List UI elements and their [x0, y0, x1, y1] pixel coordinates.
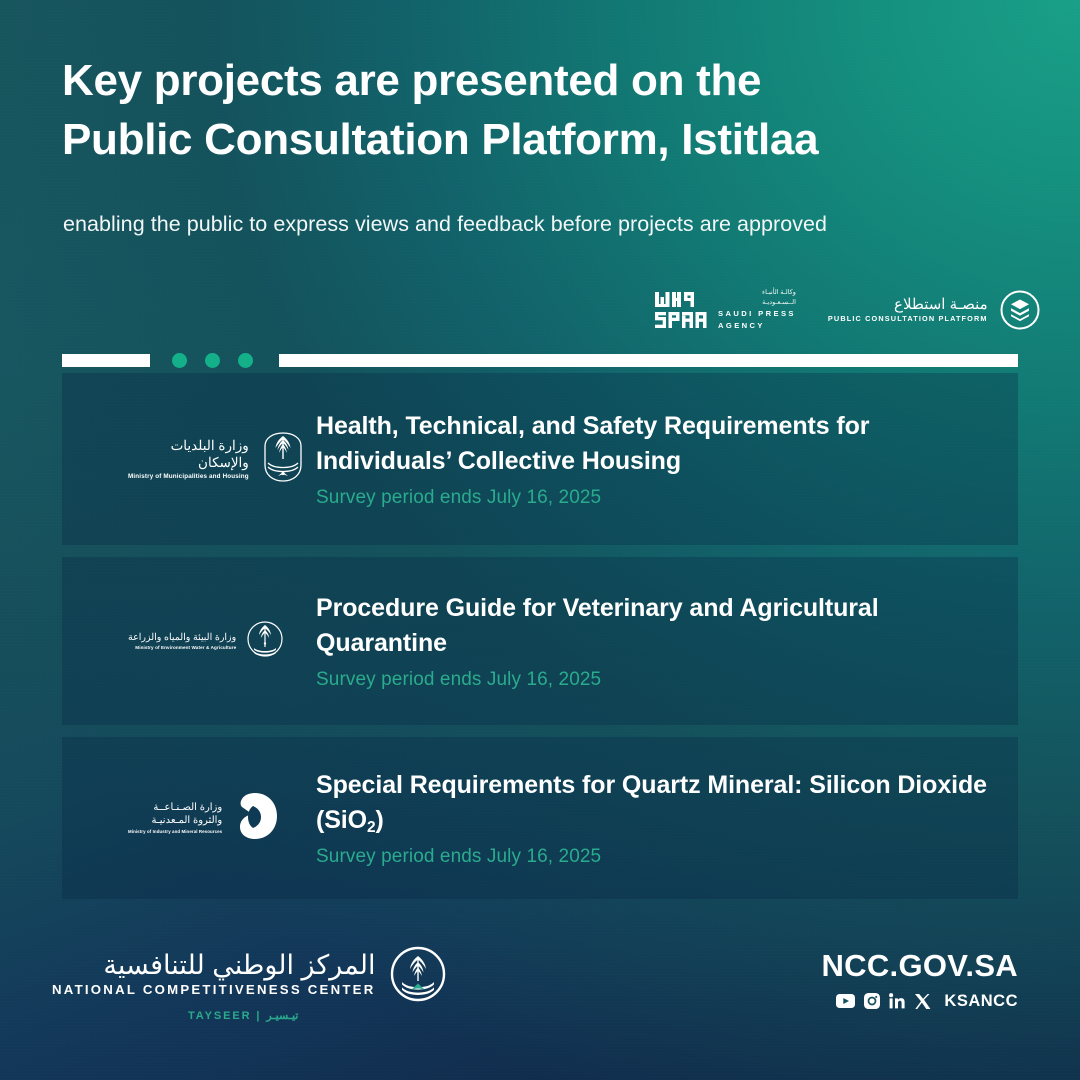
- headline-line-2: Public Consultation Platform, Istitlaa: [62, 111, 1002, 170]
- mineral-shape-icon: [232, 789, 280, 848]
- divider-dot: [205, 353, 220, 368]
- ministry-arabic-name: وزارة البلديات والإسكان: [128, 438, 249, 472]
- project-card[interactable]: وزارة الصـنـاعــة والثروة المـعدنيـة Min…: [62, 737, 1018, 899]
- headline-line-1: Key projects are presented on the: [62, 52, 1002, 111]
- ncc-logo-text: المركز الوطني للتنافسية NATIONAL COMPETI…: [52, 951, 376, 996]
- ministry-logo-text: وزارة البلديات والإسكان Ministry of Muni…: [128, 438, 249, 480]
- spa-english-line-1: SAUDI PRESS: [718, 309, 796, 319]
- partner-logos: وكالـة الأنبـاء الــسـعـوديـة SAUDI PRES…: [655, 280, 1041, 340]
- project-details: Special Requirements for Quartz Mineral:…: [302, 768, 988, 868]
- projects-list: وزارة البلديات والإسكان Ministry of Muni…: [62, 373, 1018, 899]
- ncc-english-name: NATIONAL COMPETITIVENESS CENTER: [52, 983, 376, 997]
- project-title-subscript: 2: [367, 819, 376, 836]
- ministry-arabic-name-line-1: وزارة الصـنـاعــة: [153, 802, 222, 815]
- spa-english-line-2: AGENCY: [718, 321, 796, 331]
- palm-and-swords-emblem-icon: [259, 429, 307, 490]
- ministry-logo-text: وزارة البيئة والمياه والزراعة Ministry o…: [128, 632, 236, 650]
- website-url[interactable]: NCC.GOV.SA: [821, 950, 1018, 983]
- spa-logo-icon: [655, 292, 711, 328]
- project-details: Health, Technical, and Safety Requiremen…: [302, 409, 988, 509]
- palm-and-swords-emblem-icon: [246, 618, 284, 665]
- layers-circle-icon: [999, 289, 1041, 331]
- ministry-logo-environment: وزارة البيئة والمياه والزراعة Ministry o…: [94, 618, 302, 665]
- youtube-icon[interactable]: [836, 994, 855, 1008]
- tayseer-label: TAYSEER | تيـسيـر: [188, 1010, 298, 1022]
- survey-period-text: Survey period ends July 16, 2025: [316, 669, 988, 691]
- page-subtitle: enabling the public to express views and…: [63, 212, 1023, 237]
- survey-period-text: Survey period ends July 16, 2025: [316, 846, 988, 868]
- social-handle: KSANCC: [944, 992, 1018, 1011]
- ministry-arabic-name-line-2: والثروة المـعدنيـة: [151, 815, 222, 828]
- divider-dot: [238, 353, 253, 368]
- ministry-english-name: Ministry of Municipalities and Housing: [128, 473, 249, 481]
- ministry-english-name: Ministry of Environment Water & Agricult…: [135, 645, 236, 651]
- page-title: Key projects are presented on the Public…: [62, 52, 1002, 169]
- divider-dot: [172, 353, 187, 368]
- ministry-english-name: Ministry of Industry and Mineral Resourc…: [128, 829, 222, 834]
- palm-and-swords-circle-emblem-icon: [390, 946, 446, 1002]
- poster-root: Key projects are presented on the Public…: [0, 0, 1080, 1080]
- ministry-logo-municipalities: وزارة البلديات والإسكان Ministry of Muni…: [94, 429, 302, 490]
- section-divider: [62, 353, 1018, 367]
- project-title: Procedure Guide for Veterinary and Agric…: [316, 591, 988, 660]
- istitlaa-platform-logo: منصـة استطلاع PUBLIC CONSULTATION PLATFO…: [828, 289, 1041, 331]
- spa-arabic-line-2: الــسـعـوديـة: [718, 299, 796, 308]
- survey-period-text: Survey period ends July 16, 2025: [316, 487, 988, 509]
- project-details: Procedure Guide for Veterinary and Agric…: [302, 591, 988, 691]
- website-block: NCC.GOV.SA: [821, 950, 1018, 1011]
- project-card[interactable]: وزارة البيئة والمياه والزراعة Ministry o…: [62, 557, 1018, 725]
- spa-logo-text: وكالـة الأنبـاء الــسـعـوديـة SAUDI PRES…: [718, 289, 796, 332]
- divider-dots: [172, 353, 253, 368]
- divider-bar-left: [62, 354, 150, 367]
- ncc-logo: المركز الوطني للتنافسية NATIONAL COMPETI…: [52, 946, 446, 1002]
- project-title: Special Requirements for Quartz Mineral:…: [316, 768, 988, 837]
- istitlaa-logo-text: منصـة استطلاع PUBLIC CONSULTATION PLATFO…: [828, 297, 988, 324]
- project-title: Health, Technical, and Safety Requiremen…: [316, 409, 988, 478]
- spa-arabic-line-1: وكالـة الأنبـاء: [718, 289, 796, 298]
- saudi-press-agency-logo: وكالـة الأنبـاء الــسـعـوديـة SAUDI PRES…: [655, 289, 796, 332]
- x-twitter-icon[interactable]: [914, 993, 931, 1010]
- project-title-main: Special Requirements for Quartz Mineral:…: [316, 771, 987, 834]
- linkedin-icon[interactable]: [889, 993, 905, 1009]
- ministry-arabic-name: وزارة البيئة والمياه والزراعة: [128, 632, 236, 644]
- divider-bar-right: [279, 354, 1018, 367]
- social-links: KSANCC: [821, 992, 1018, 1011]
- instagram-icon[interactable]: [864, 993, 880, 1009]
- ministry-logo-text: وزارة الصـنـاعــة والثروة المـعدنيـة Min…: [128, 802, 222, 834]
- istitlaa-arabic: منصـة استطلاع: [894, 297, 988, 314]
- istitlaa-english: PUBLIC CONSULTATION PLATFORM: [828, 315, 988, 323]
- project-card[interactable]: وزارة البلديات والإسكان Ministry of Muni…: [62, 373, 1018, 545]
- ministry-logo-industry: وزارة الصـنـاعــة والثروة المـعدنيـة Min…: [94, 789, 302, 848]
- project-title-tail: ): [376, 806, 384, 834]
- ncc-arabic-name: المركز الوطني للتنافسية: [103, 951, 375, 979]
